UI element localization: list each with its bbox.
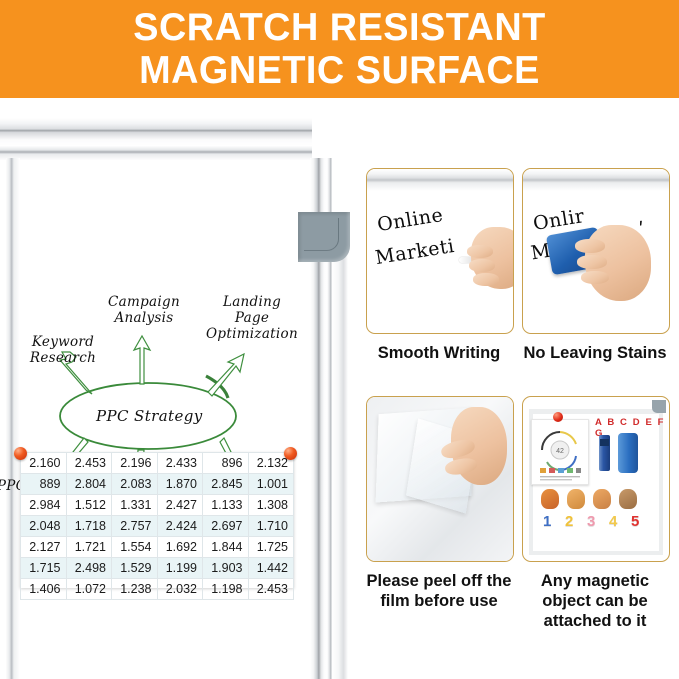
table-cell: 1.308 (248, 495, 294, 516)
table-cell: 2.757 (112, 516, 158, 537)
red-magnet-dot (553, 412, 563, 422)
feature-panel-grid: Online Marketi Smooth Writing Onlir M ʹ (362, 108, 679, 679)
table-cell: 2.845 (203, 474, 249, 495)
eraser-magnet (618, 433, 638, 473)
table-cell: 1.710 (248, 516, 294, 537)
table-cell: 2.697 (203, 516, 249, 537)
handwriting-line-1: Online (376, 204, 445, 236)
table-cell: 2.498 (66, 558, 112, 579)
thumb-frame-strip (367, 169, 513, 191)
marker-magnet (599, 435, 610, 471)
poster-chart: 42 (532, 420, 588, 484)
magnet-poster: 42 (531, 419, 589, 485)
table-cell: 2.083 (112, 474, 158, 495)
table-cell: 1.721 (66, 537, 112, 558)
frame-rail-top (0, 118, 312, 160)
table-cell: 1.442 (248, 558, 294, 579)
thumb-smooth-writing: Online Marketi (366, 168, 514, 334)
table-cell: 1.198 (203, 579, 249, 600)
caption-peel-film: Please peel off the film before use (366, 571, 512, 611)
animal-magnet-lion (541, 489, 559, 509)
poster-number-text: 42 (556, 448, 564, 455)
table-cell: 1.331 (112, 495, 158, 516)
finger-2 (577, 255, 607, 269)
banner-title: SCRATCH RESISTANT MAGNETIC SURFACE (10, 6, 669, 92)
thumb-frame-strip (523, 169, 669, 191)
finger-1 (467, 245, 493, 258)
number-magnet-5: 5 (631, 513, 639, 530)
header-banner: SCRATCH RESISTANT MAGNETIC SURFACE (0, 0, 679, 98)
thumb-no-stains: Onlir M ʹ (522, 168, 670, 334)
handwriting-line-2: Marketi (374, 235, 456, 269)
table-cell: 1.001 (248, 474, 294, 495)
table-row: 2.9841.5121.3312.4271.1331.308 (21, 495, 294, 516)
caption-smooth-writing: Smooth Writing (366, 343, 512, 363)
table-cell: 2.453 (248, 579, 294, 600)
table-cell: 2.127 (21, 537, 67, 558)
mindmap-node-landing-page-optimization: Landing Page Optimization (196, 294, 308, 342)
table-cell: 1.512 (66, 495, 112, 516)
table-cell: 2.433 (157, 453, 203, 474)
table-cell: 1.554 (112, 537, 158, 558)
table-row: 1.7152.4981.5291.1991.9031.442 (21, 558, 294, 579)
product-feature-image: SCRATCH RESISTANT MAGNETIC SURFACE (0, 0, 679, 679)
table-row: 2.1271.7211.5541.6921.8441.725 (21, 537, 294, 558)
frame-rail-right-outer (332, 226, 348, 679)
table-cell: 2.160 (21, 453, 67, 474)
table-cell: 1.406 (21, 579, 67, 600)
caption-magnetic: Any magnetic object can be attached to i… (522, 571, 668, 631)
table-row: 8892.8042.0831.8702.8451.001 (21, 474, 294, 495)
finger-1 (575, 239, 605, 253)
feature-panel-peel-film: Please peel off the film before use (366, 396, 514, 611)
table-cell: 2.424 (157, 516, 203, 537)
table-cell: 2.453 (66, 453, 112, 474)
magnet-dot-right (284, 447, 297, 460)
finger-3 (581, 271, 609, 284)
table-row: 1.4061.0721.2382.0321.1982.453 (21, 579, 294, 600)
table-cell: 2.984 (21, 495, 67, 516)
magnet-dot-left (14, 447, 27, 460)
table-cell: 1.844 (203, 537, 249, 558)
animal-magnet-squirrel (619, 489, 637, 509)
thumb-peel-film (366, 396, 514, 562)
table-cell: 889 (21, 474, 67, 495)
table-cell: 1.133 (203, 495, 249, 516)
table-cell: 2.804 (66, 474, 112, 495)
table-row: 2.1602.4532.1962.4338962.132 (21, 453, 294, 474)
feature-panel-magnetic: 42 A B C D E F G (522, 396, 670, 631)
table-row: 2.0481.7182.7572.4242.6971.710 (21, 516, 294, 537)
table-cell: 1.529 (112, 558, 158, 579)
table-cell: 1.072 (66, 579, 112, 600)
finger-3 (473, 273, 499, 286)
table-cell: 2.427 (157, 495, 203, 516)
thumb-magnetic: 42 A B C D E F G (522, 396, 670, 562)
table-cell: 1.718 (66, 516, 112, 537)
mini-frame-corner (652, 400, 666, 413)
animal-magnet-cat (567, 489, 585, 509)
table-cell: 1.238 (112, 579, 158, 600)
feature-panel-smooth-writing: Online Marketi Smooth Writing (366, 168, 514, 363)
table-cell: 1.903 (203, 558, 249, 579)
table-cell: 1.725 (248, 537, 294, 558)
table-cell: 896 (203, 453, 249, 474)
table-cell: 2.032 (157, 579, 203, 600)
animal-magnet-deer (593, 489, 611, 509)
mindmap-node-campaign-analysis: Campaign Analysis (92, 294, 196, 326)
table-cell: 1.870 (157, 474, 203, 495)
table-cell: 2.048 (21, 516, 67, 537)
mindmap-node-keyword-research: Keyword Research (14, 334, 112, 366)
data-table: 2.1602.4532.1962.4338962.1328892.8042.08… (20, 452, 294, 600)
data-table-body: 2.1602.4532.1962.4338962.1328892.8042.08… (21, 453, 294, 600)
table-cell: 2.196 (112, 453, 158, 474)
table-cell: 1.692 (157, 537, 203, 558)
finger-2 (469, 259, 495, 272)
number-magnet-3: 3 (587, 513, 595, 530)
number-magnet-2: 2 (565, 513, 573, 530)
data-table-card: 2.1602.4532.1962.4338962.1328892.8042.08… (20, 452, 294, 588)
number-magnet-1: 1 (543, 513, 551, 530)
table-cell: 1.199 (157, 558, 203, 579)
whiteboard-photo: PPC Strategy Keyword Research Campaign A… (0, 98, 360, 679)
table-cell: 1.715 (21, 558, 67, 579)
feature-panel-no-stains: Onlir M ʹ No Leaving Stains (522, 168, 670, 363)
caption-no-stains: No Leaving Stains (522, 343, 668, 363)
number-magnet-4: 4 (609, 513, 617, 530)
mindmap-center-label: PPC Strategy (96, 407, 203, 425)
